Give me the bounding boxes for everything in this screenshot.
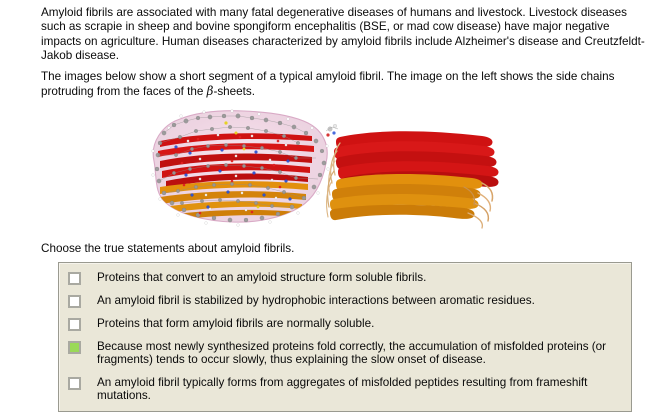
option-row-3[interactable]: Proteins that form amyloid fibrils are n… xyxy=(59,317,631,331)
checkbox-icon-option-3[interactable] xyxy=(68,318,81,331)
checkbox-icon-option-4[interactable] xyxy=(68,341,81,354)
option-label-4: Because most newly synthesized proteins … xyxy=(97,340,617,367)
intro-paragraph-1: Amyloid fibrils are associated with many… xyxy=(41,6,649,64)
ribbon-left-remnant xyxy=(326,124,338,136)
intro-paragraph-2: The images below show a short segment of… xyxy=(41,70,649,100)
answer-options-panel: Proteins that convert to an amyloid stru… xyxy=(58,262,632,412)
checkbox-icon-option-1[interactable] xyxy=(68,272,81,285)
orange-ribbon-strands xyxy=(330,174,483,220)
option-label-5: An amyloid fibril typically forms from a… xyxy=(97,376,617,403)
checkbox-icon-option-5[interactable] xyxy=(68,377,81,390)
option-row-4[interactable]: Because most newly synthesized proteins … xyxy=(59,340,631,367)
question-prompt: Choose the true statements about amyloid… xyxy=(41,242,294,256)
option-label-3: Proteins that form amyloid fibrils are n… xyxy=(97,317,374,330)
paragraph-2-after-beta: -sheets. xyxy=(213,85,255,98)
fibril-figure xyxy=(0,103,656,231)
option-row-5[interactable]: An amyloid fibril typically forms from a… xyxy=(59,376,631,403)
fibril-ribbon-image xyxy=(322,117,522,229)
fibril-spacefilling-image xyxy=(140,103,340,231)
option-row-2[interactable]: An amyloid fibril is stabilized by hydro… xyxy=(59,294,631,308)
checkbox-icon-option-2[interactable] xyxy=(68,295,81,308)
paragraph-2-before-beta: The images below show a short segment of… xyxy=(41,70,614,98)
option-label-1: Proteins that convert to an amyloid stru… xyxy=(97,271,426,284)
option-row-1[interactable]: Proteins that convert to an amyloid stru… xyxy=(59,271,631,285)
option-label-2: An amyloid fibril is stabilized by hydro… xyxy=(97,294,535,307)
